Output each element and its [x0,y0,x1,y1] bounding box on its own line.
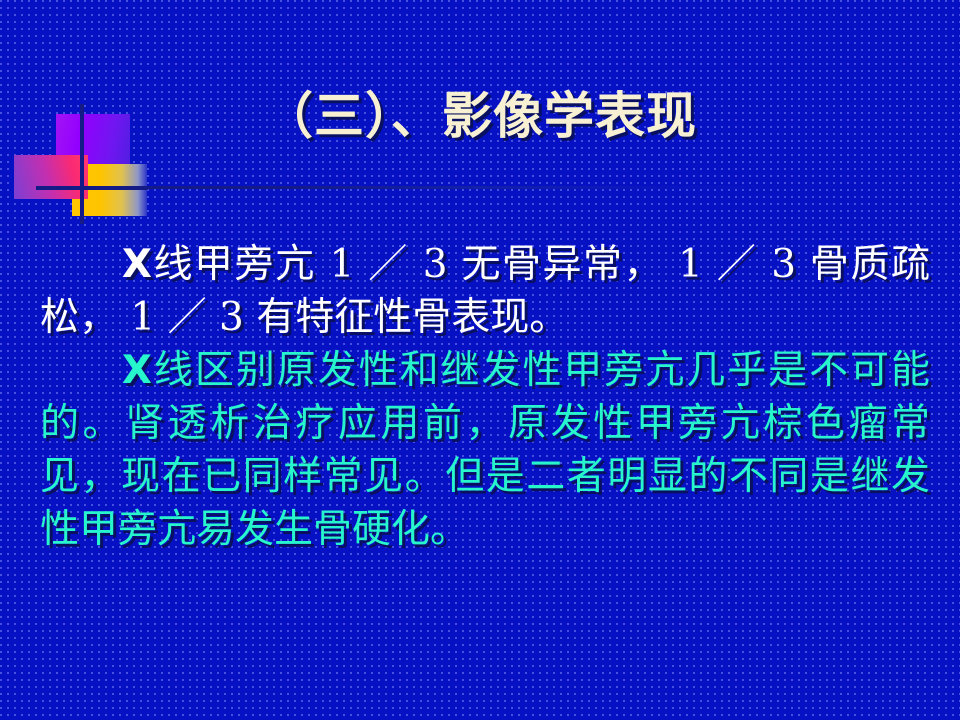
paragraph-1-text: 线甲旁亢 1 ／ 3 无骨异常， 1 ／ 3 骨质疏松， 1 ／ 3 有特征性骨… [40,242,930,340]
paragraph-2: X线区别原发性和继发性甲旁亢几乎是不可能的。肾透析治疗应用前，原发性甲旁亢棕色瘤… [40,344,930,556]
paragraph-1: X线甲旁亢 1 ／ 3 无骨异常， 1 ／ 3 骨质疏松， 1 ／ 3 有特征性… [40,238,930,344]
paragraph-2-lead: X [122,348,152,393]
paragraph-2-text: 线区别原发性和继发性甲旁亢几乎是不可能的。肾透析治疗应用前，原发性甲旁亢棕色瘤常… [40,348,930,552]
paragraph-1-lead: X [122,242,152,287]
pink-block-icon [14,155,88,199]
horizontal-rule-icon [36,186,148,190]
slide-body: X线甲旁亢 1 ／ 3 无骨异常， 1 ／ 3 骨质疏松， 1 ／ 3 有特征性… [40,238,930,556]
title-divider [134,186,824,189]
presentation-slide: （三）、影像学表现 X线甲旁亢 1 ／ 3 无骨异常， 1 ／ 3 骨质疏松， … [0,0,960,720]
slide-title: （三）、影像学表现 [0,85,960,147]
